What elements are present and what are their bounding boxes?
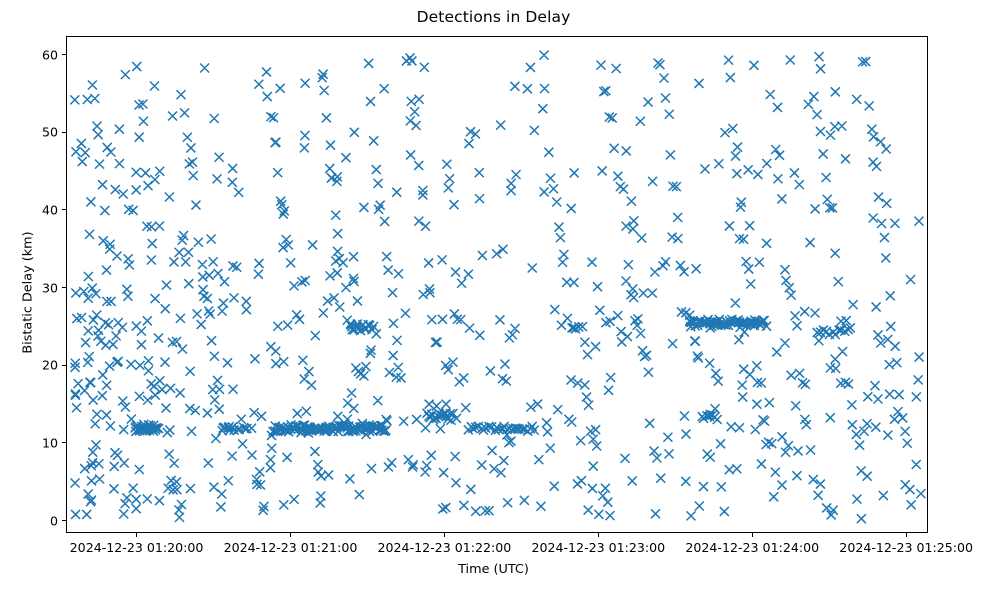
- x-tick-mark: [752, 533, 753, 537]
- x-tick-label: 2024-12-23 01:25:00: [839, 540, 973, 555]
- x-tick-mark: [444, 533, 445, 537]
- x-tick-label: 2024-12-23 01:22:00: [378, 540, 512, 555]
- plot-axes-area: [66, 36, 928, 533]
- y-axis-label: Bistatic Delay (km): [21, 173, 36, 413]
- x-tick-label: 2024-12-23 01:23:00: [531, 540, 665, 555]
- x-tick-mark: [136, 533, 137, 537]
- scatter-marker-group: [67, 37, 928, 533]
- x-tick-mark: [598, 533, 599, 537]
- y-tick-mark: [62, 365, 66, 366]
- x-tick-mark: [290, 533, 291, 537]
- y-tick-mark: [62, 442, 66, 443]
- scatter-data-layer: [67, 37, 927, 532]
- y-tick-label: 60: [10, 47, 58, 62]
- y-tick-label: 0: [10, 513, 58, 528]
- y-tick-label: 50: [10, 125, 58, 140]
- y-tick-mark: [62, 209, 66, 210]
- figure-canvas: Detections in Delay 2024-12-23 01:20:002…: [0, 0, 987, 590]
- x-tick-label: 2024-12-23 01:21:00: [224, 540, 358, 555]
- y-tick-mark: [62, 520, 66, 521]
- x-tick-label: 2024-12-23 01:24:00: [685, 540, 819, 555]
- page-title: Detections in Delay: [0, 8, 987, 26]
- y-tick-mark: [62, 54, 66, 55]
- y-tick-label: 10: [10, 435, 58, 450]
- x-tick-mark: [906, 533, 907, 537]
- y-tick-mark: [62, 132, 66, 133]
- x-tick-label: 2024-12-23 01:20:00: [70, 540, 204, 555]
- scatter-markers-path: [70, 51, 925, 524]
- x-axis-label: Time (UTC): [0, 562, 987, 577]
- y-tick-mark: [62, 287, 66, 288]
